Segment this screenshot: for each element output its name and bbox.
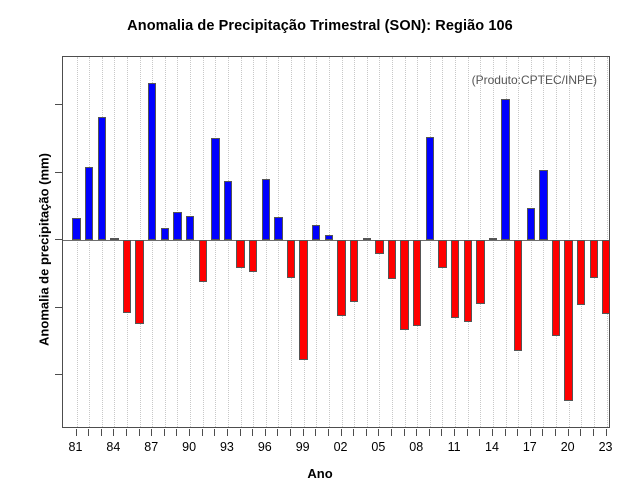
bar-06 <box>388 240 396 279</box>
gridline <box>329 57 330 427</box>
bar-02 <box>337 240 345 316</box>
bar-05 <box>375 240 383 254</box>
x-tick-mark <box>492 429 493 436</box>
bar-08 <box>413 240 421 326</box>
bar-87 <box>148 83 156 240</box>
gridline <box>102 57 103 427</box>
x-tick-mark <box>76 429 77 436</box>
x-tick-mark <box>568 429 569 436</box>
x-tick-label: 93 <box>220 440 234 454</box>
x-tick-mark <box>328 429 329 436</box>
x-tick-mark <box>467 429 468 436</box>
x-tick-mark <box>593 429 594 436</box>
bar-00 <box>312 225 320 240</box>
bar-96 <box>262 179 270 240</box>
source-annotation: (Produto:CPTEC/INPE) <box>472 73 597 87</box>
gridline <box>316 57 317 427</box>
x-tick-label: 14 <box>485 440 499 454</box>
x-tick-label: 99 <box>296 440 310 454</box>
x-tick-label: 90 <box>182 440 196 454</box>
bar-03 <box>350 240 358 302</box>
x-tick-mark <box>505 429 506 436</box>
gridline <box>190 57 191 427</box>
x-tick-label: 05 <box>371 440 385 454</box>
x-tick-mark <box>240 429 241 436</box>
bar-83 <box>98 117 106 240</box>
gridline <box>278 57 279 427</box>
x-tick-mark <box>366 429 367 436</box>
zero-baseline <box>63 240 609 241</box>
bar-10 <box>438 240 446 268</box>
bar-17 <box>527 208 535 240</box>
bar-13 <box>476 240 484 304</box>
x-tick-mark <box>88 429 89 436</box>
bar-85 <box>123 240 131 313</box>
gridline <box>543 57 544 427</box>
x-tick-mark <box>454 429 455 436</box>
bar-09 <box>426 137 434 240</box>
bar-15 <box>501 99 509 240</box>
plot-area: (Produto:CPTEC/INPE) <box>62 56 610 428</box>
bar-99 <box>299 240 307 360</box>
bar-88 <box>161 228 169 240</box>
x-tick-mark <box>126 429 127 436</box>
x-tick-label: 96 <box>258 440 272 454</box>
bar-07 <box>400 240 408 330</box>
x-tick-label: 11 <box>448 440 461 454</box>
bar-90 <box>186 216 194 240</box>
x-tick-mark <box>176 429 177 436</box>
x-tick-mark <box>214 429 215 436</box>
x-tick-label: 20 <box>561 440 575 454</box>
x-tick-mark <box>341 429 342 436</box>
x-tick-mark <box>315 429 316 436</box>
y-tick-mark <box>55 172 62 173</box>
bar-93 <box>224 181 232 240</box>
y-tick-mark <box>55 104 62 105</box>
gridline <box>177 57 178 427</box>
bar-84 <box>110 238 118 240</box>
bar-97 <box>274 217 282 240</box>
gridline <box>493 57 494 427</box>
bar-94 <box>236 240 244 268</box>
gridline <box>77 57 78 427</box>
bar-91 <box>199 240 207 282</box>
bar-89 <box>173 212 181 240</box>
x-tick-mark <box>378 429 379 436</box>
gridline <box>89 57 90 427</box>
x-tick-mark <box>113 429 114 436</box>
x-tick-label: 02 <box>334 440 348 454</box>
bar-20 <box>564 240 572 401</box>
x-tick-mark <box>606 429 607 436</box>
x-tick-mark <box>391 429 392 436</box>
gridline <box>430 57 431 427</box>
x-tick-label: 87 <box>144 440 158 454</box>
x-tick-mark <box>101 429 102 436</box>
x-tick-mark <box>530 429 531 436</box>
gridline <box>114 57 115 427</box>
bar-18 <box>539 170 547 240</box>
y-axis-label: Anomalia de precipitação (mm) <box>37 110 52 390</box>
gridline <box>531 57 532 427</box>
x-tick-mark <box>404 429 405 436</box>
bar-04 <box>363 238 371 240</box>
x-tick-mark <box>416 429 417 436</box>
y-tick-mark <box>55 307 62 308</box>
y-tick-mark <box>55 374 62 375</box>
gridline <box>266 57 267 427</box>
x-tick-mark <box>517 429 518 436</box>
bar-86 <box>135 240 143 324</box>
x-tick-mark <box>290 429 291 436</box>
x-tick-mark <box>227 429 228 436</box>
x-tick-mark <box>542 429 543 436</box>
bar-19 <box>552 240 560 336</box>
bar-11 <box>451 240 459 318</box>
x-tick-label: 81 <box>69 440 83 454</box>
bar-98 <box>287 240 295 278</box>
x-tick-mark <box>555 429 556 436</box>
gridline <box>215 57 216 427</box>
x-tick-mark <box>164 429 165 436</box>
x-tick-mark <box>252 429 253 436</box>
y-tick-mark <box>55 239 62 240</box>
gridline <box>228 57 229 427</box>
x-tick-mark <box>303 429 304 436</box>
x-tick-mark <box>139 429 140 436</box>
chart-root: Anomalia de Precipitação Trimestral (SON… <box>0 0 640 500</box>
x-tick-mark <box>441 429 442 436</box>
x-tick-mark <box>277 429 278 436</box>
x-tick-mark <box>265 429 266 436</box>
x-tick-label: 84 <box>106 440 120 454</box>
bar-14 <box>489 238 497 240</box>
bar-95 <box>249 240 257 272</box>
bar-92 <box>211 138 219 240</box>
x-tick-label: 23 <box>599 440 613 454</box>
bar-16 <box>514 240 522 351</box>
bar-21 <box>577 240 585 305</box>
bar-22 <box>590 240 598 278</box>
bar-23 <box>602 240 610 314</box>
bar-01 <box>325 235 333 240</box>
x-tick-mark <box>151 429 152 436</box>
x-tick-mark <box>580 429 581 436</box>
gridline <box>367 57 368 427</box>
bar-12 <box>464 240 472 322</box>
gridline <box>165 57 166 427</box>
x-tick-label: 08 <box>409 440 423 454</box>
x-tick-mark <box>479 429 480 436</box>
x-tick-mark <box>429 429 430 436</box>
x-tick-label: 17 <box>523 440 537 454</box>
x-tick-mark <box>189 429 190 436</box>
x-tick-mark <box>353 429 354 436</box>
bar-82 <box>85 167 93 240</box>
chart-title: Anomalia de Precipitação Trimestral (SON… <box>0 18 640 34</box>
x-tick-mark <box>202 429 203 436</box>
bar-81 <box>72 218 80 240</box>
x-axis-label: Ano <box>0 466 640 481</box>
